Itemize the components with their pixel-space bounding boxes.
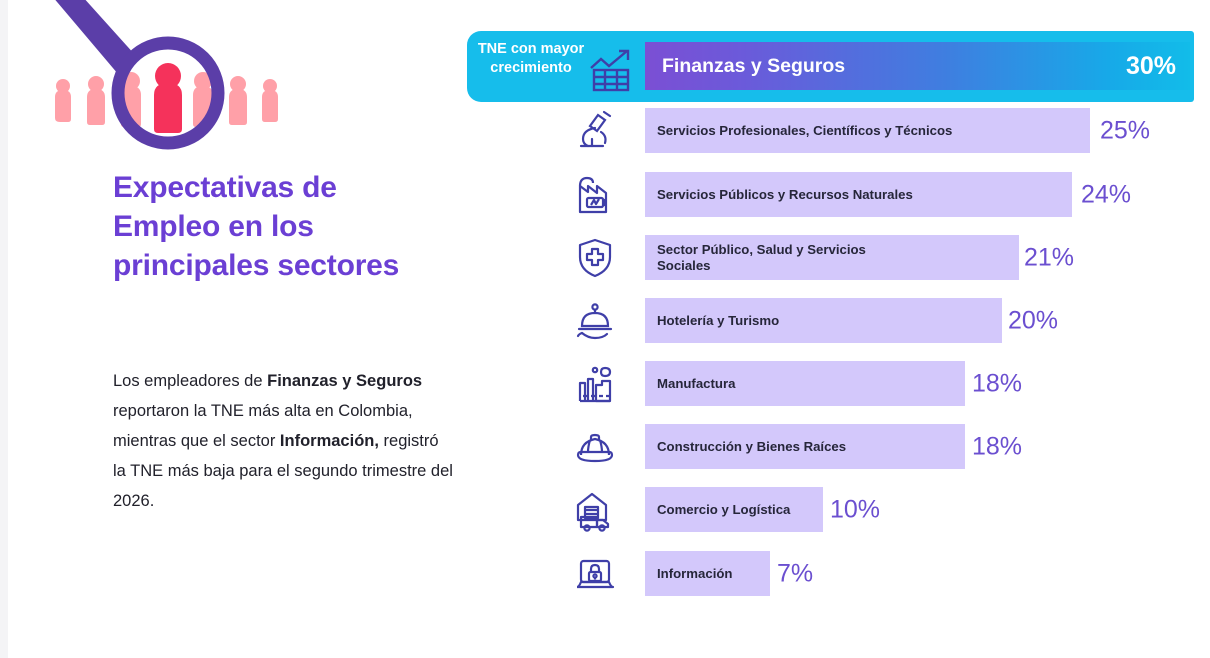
row-value: 20%: [1008, 306, 1058, 335]
growth-chart-icon: [587, 48, 643, 92]
row-value: 10%: [830, 495, 880, 524]
bar-fill: Construcción y Bienes Raíces: [645, 424, 965, 469]
row-label: Hotelería y Turismo: [645, 313, 779, 329]
row-value: 18%: [972, 369, 1022, 398]
highlight-bar-value: 30%: [1126, 52, 1176, 81]
row-value: 21%: [1024, 243, 1074, 272]
row-label: Servicios Profesionales, Científicos y T…: [645, 123, 952, 139]
left-column: Expectativas de Empleo en los principale…: [0, 0, 460, 658]
row-label: Comercio y Logística: [645, 502, 790, 518]
row-value: 24%: [1081, 180, 1131, 209]
magnifier-over-people-icon: [18, 0, 298, 160]
row-label: Construcción y Bienes Raíces: [645, 439, 846, 455]
highlight-bar-finanzas: Finanzas y Seguros 30%: [645, 42, 1190, 90]
food-dome-icon: [571, 298, 619, 344]
hard-hat-icon: [571, 424, 619, 470]
power-plant-icon: [571, 172, 619, 218]
bar-fill: Servicios Públicos y Recursos Naturales: [645, 172, 1072, 217]
sector-chart: TNE con mayor crecimiento Finanzas y Seg…: [467, 0, 1210, 658]
bar-fill: Hotelería y Turismo: [645, 298, 1002, 343]
bar-fill: Servicios Profesionales, Científicos y T…: [645, 108, 1090, 153]
row-label: Manufactura: [645, 376, 735, 392]
highlight-bar-label: Finanzas y Seguros: [662, 55, 845, 78]
bar-fill: Información: [645, 551, 770, 596]
banner-label: TNE con mayor crecimiento: [477, 40, 585, 78]
bar-fill: Manufactura: [645, 361, 965, 406]
factory-icon: [571, 361, 619, 407]
bar-fill: Sector Público, Salud y Servicios Social…: [645, 235, 1019, 280]
warehouse-truck-icon: [571, 487, 619, 533]
health-shield-icon: [571, 235, 619, 281]
row-value: 25%: [1100, 116, 1150, 145]
laptop-lock-icon: [571, 551, 619, 597]
row-value: 7%: [777, 559, 813, 588]
microscope-icon: [571, 108, 619, 154]
top-growth-banner: TNE con mayor crecimiento Finanzas y Seg…: [467, 31, 1194, 102]
row-value: 18%: [972, 432, 1022, 461]
intro-paragraph: Los empleadores de Finanzas y Seguros re…: [113, 366, 453, 516]
page-title: Expectativas de Empleo en los principale…: [113, 168, 443, 285]
row-label: Sector Público, Salud y Servicios Social…: [645, 242, 866, 274]
row-label: Servicios Públicos y Recursos Naturales: [645, 187, 913, 203]
row-label: Información: [645, 566, 732, 582]
bar-fill: Comercio y Logística: [645, 487, 823, 532]
